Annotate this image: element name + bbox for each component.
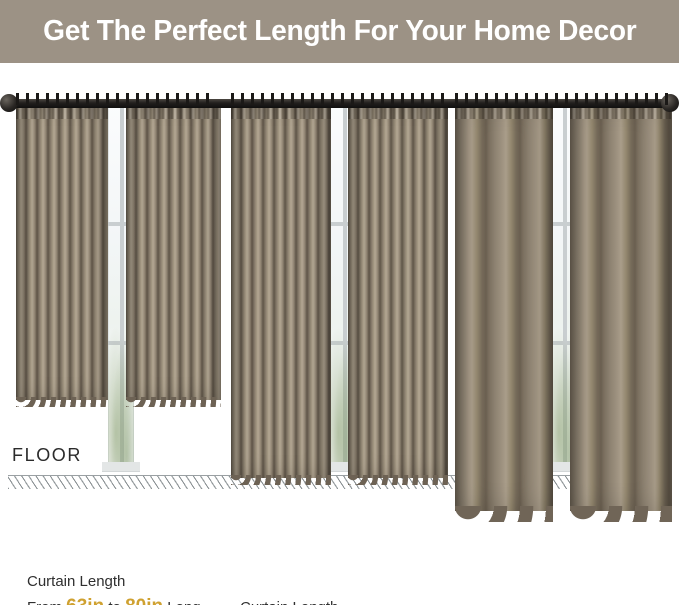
caption-title: Curtain Length [27, 571, 201, 593]
window-sill [102, 462, 140, 471]
curtain-shading [16, 103, 108, 400]
curtain-panel [455, 103, 553, 511]
curtain-shading [126, 103, 221, 400]
caption-suffix: Long [163, 599, 201, 605]
caption-title: Curtain Length [240, 597, 414, 605]
curtain-hem [16, 397, 108, 407]
curtain-shading [348, 103, 448, 478]
curtain-panel [16, 103, 108, 400]
curtain-rings [231, 93, 444, 105]
caption-to-value: 80in [125, 596, 163, 605]
curtain-illustration: FLOOR Curtain Length From 63in to 80in L… [0, 63, 679, 605]
curtain-hem [348, 475, 448, 485]
header-banner: Get The Perfect Length For Your Home Dec… [0, 0, 679, 63]
caption-from-value: 63in [66, 596, 104, 605]
curtain-hem [455, 506, 553, 522]
curtain-shading [570, 103, 672, 511]
curtain-shading [231, 103, 331, 478]
curtain-hem [570, 506, 672, 522]
curtain-panel [348, 103, 448, 478]
floor-label: FLOOR [12, 445, 82, 466]
banner-title: Get The Perfect Length For Your Home Dec… [43, 15, 636, 48]
curtain-rings [16, 93, 216, 105]
curtain-panel [231, 103, 331, 478]
curtain-rings [455, 93, 668, 105]
curtain-shading [455, 103, 553, 511]
caption-prefix: From [27, 599, 66, 605]
caption-medium: Curtain Length From 84in to 96in Long [240, 597, 414, 605]
curtain-panel [570, 103, 672, 511]
caption-short: Curtain Length From 63in to 80in Long [27, 571, 201, 605]
caption-range: From 63in to 80in Long [27, 593, 201, 605]
curtain-panel [126, 103, 221, 400]
caption-mid: to [104, 599, 125, 605]
curtain-hem [126, 397, 221, 407]
curtain-hem [231, 475, 331, 485]
